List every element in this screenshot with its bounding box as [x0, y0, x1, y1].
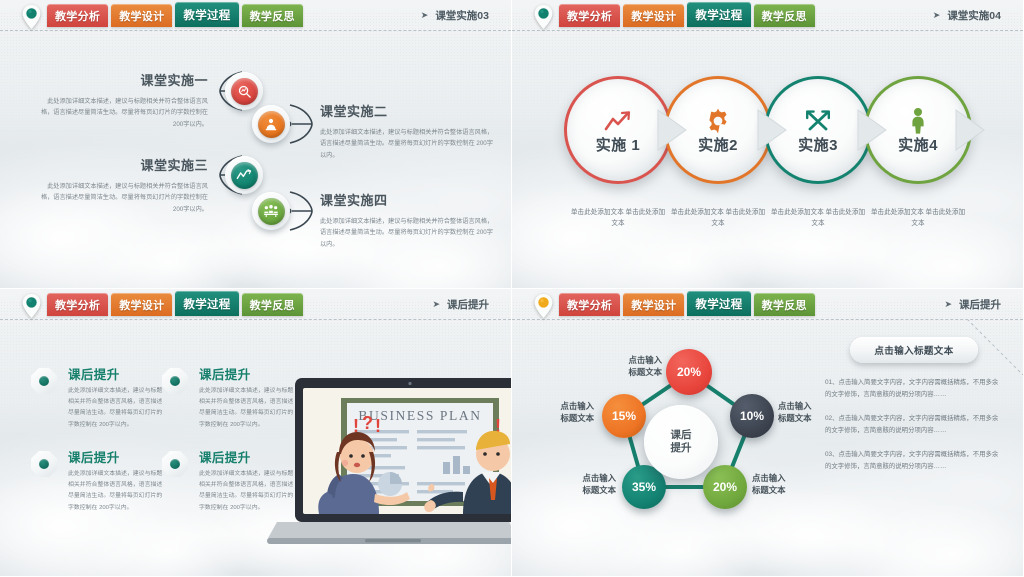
- star-node-left[interactable]: 15%: [602, 394, 646, 438]
- slide-thumbnail-grid: 教学分析 教学设计 教学过程 教学反思 ➤ 课堂实施03: [0, 0, 1024, 577]
- ring-process-diagram: 实施 1 实施2 实施: [564, 76, 976, 198]
- star-node-top[interactable]: 20%: [666, 349, 712, 395]
- ring-label: 实施 1: [596, 134, 641, 155]
- ring-label: 实施4: [898, 134, 938, 155]
- slide-title-right: ➤ 课后提升: [432, 297, 489, 312]
- nav-tabs[interactable]: 教学分析 教学设计 教学过程 教学反思: [47, 4, 303, 27]
- hub-line-1: 课后: [671, 429, 692, 442]
- user-presenter-icon: [258, 111, 285, 138]
- step-badge-1[interactable]: [225, 72, 263, 110]
- tab-teaching-design[interactable]: 教学设计: [623, 293, 684, 316]
- bullet-octagon-1: [31, 368, 57, 394]
- item-body: 此处添加详细文本描述，建议与标题相关并符合整体语言风格，语言描述尽量简洁生动。尽…: [68, 469, 168, 514]
- ring-caption-2: 单击此处添加文本 单击此处添加文本: [670, 208, 766, 230]
- trend-arrow-icon: [603, 106, 633, 136]
- line-chart-icon: [231, 162, 258, 189]
- chevron-right-icon: ➤: [933, 10, 941, 21]
- star-node-label-right: 点击输入 标题文本: [778, 401, 840, 425]
- svg-text:!: !: [375, 416, 381, 436]
- ring-caption-4: 单击此处添加文本 单击此处添加文本: [870, 208, 966, 230]
- slide-title-right: ➤ 课堂实施04: [933, 8, 1001, 23]
- bracket-connector: [286, 101, 324, 147]
- star-node-bottom-right[interactable]: 20%: [703, 465, 747, 509]
- star-network-chart: 课后 提升 20% 10% 20% 35% 15% 点击输入 标题文本 点击输入…: [526, 329, 826, 549]
- header-divider: [512, 319, 1023, 320]
- tab-teaching-analysis[interactable]: 教学分析: [47, 4, 108, 27]
- chevron-right-icon: ➤: [944, 299, 952, 310]
- tab-teaching-design[interactable]: 教学设计: [111, 293, 172, 316]
- bracket-connector: [286, 188, 324, 234]
- tab-teaching-analysis[interactable]: 教学分析: [559, 4, 620, 27]
- slide-header: 教学分析 教学设计 教学过程 教学反思 ➤ 课后提升: [512, 289, 1023, 320]
- panel-paragraph-2: 02、点击输入简要文字内容，文字内容需概括精炼，不用多余的文字修饰，言简意赅的说…: [825, 413, 1003, 438]
- laptop-business-plan-illustration: BUSINESS PLAN !?! !: [267, 374, 512, 570]
- list-item: 课后提升 此处添加详细文本描述，建议与标题相关并符合整体语言风格，语言描述尽量简…: [68, 364, 168, 431]
- list-item: 课后提升 此处添加详细文本描述，建议与标题相关并符合整体语言风格，语言描述尽量简…: [68, 447, 168, 514]
- chevron-right-icon: ➤: [421, 10, 429, 21]
- search-chart-icon: [231, 78, 258, 105]
- item-title: 课后提升: [68, 364, 168, 383]
- header-divider: [512, 30, 1023, 31]
- header-divider: [0, 30, 511, 31]
- tab-teaching-analysis[interactable]: 教学分析: [47, 293, 108, 316]
- page-title: 课堂实施04: [947, 8, 1001, 23]
- page-title: 课后提升: [447, 297, 489, 312]
- star-node-right[interactable]: 10%: [730, 394, 774, 438]
- page-title: 课后提升: [959, 297, 1001, 312]
- chevron-connector: [954, 108, 988, 152]
- item-body: 此处添加详细文本描述，建议与标题相关并符合整体语言风格，语言描述尽量简洁生动。尽…: [36, 96, 208, 130]
- panel-title-button[interactable]: 点击输入标题文本: [850, 337, 978, 363]
- map-pin-icon: [534, 5, 553, 29]
- item-title: 课堂实施二: [320, 101, 498, 120]
- step-badge-2[interactable]: [252, 105, 290, 143]
- item-body: 此处添加详细文本描述，建议与标题相关并符合整体语言风格，语言描述尽量简洁生动。尽…: [36, 181, 208, 215]
- nav-tabs[interactable]: 教学分析 教学设计 教学过程 教学反思: [47, 293, 303, 316]
- tab-teaching-reflection[interactable]: 教学反思: [242, 293, 303, 316]
- map-pin-icon: [22, 294, 41, 318]
- chevron-right-icon: ➤: [432, 299, 440, 310]
- tab-teaching-process[interactable]: 教学过程: [687, 2, 750, 27]
- item-block-1: 课堂实施一 此处添加详细文本描述，建议与标题相关并符合整体语言风格，语言描述尽量…: [36, 70, 208, 130]
- star-node-label-left: 点击输入 标题文本: [532, 401, 594, 425]
- item-title: 课堂实施一: [36, 70, 208, 89]
- slide-title-right: ➤ 课后提升: [944, 297, 1001, 312]
- slide-header: 教学分析 教学设计 教学过程 教学反思 ➤ 课堂实施04: [512, 0, 1023, 31]
- gear-icon: [705, 106, 731, 136]
- tab-teaching-process[interactable]: 教学过程: [175, 2, 238, 27]
- step-badge-3[interactable]: [225, 156, 263, 194]
- meeting-icon: [258, 198, 285, 225]
- ring-caption-1: 单击此处添加文本 单击此处添加文本: [570, 208, 666, 230]
- item-body: 此处添加详细文本描述，建议与标题相关并符合整体语言风格，语言描述尽量简洁生动。尽…: [320, 127, 498, 161]
- chevron-connector: [856, 108, 890, 152]
- step-badge-4[interactable]: [252, 192, 290, 230]
- nav-tabs[interactable]: 教学分析 教学设计 教学过程 教学反思: [559, 293, 815, 316]
- item-block-2: 课堂实施二 此处添加详细文本描述，建议与标题相关并符合整体语言风格，语言描述尽量…: [320, 101, 498, 161]
- cross-arrows-icon: [804, 106, 832, 136]
- ring-label: 实施2: [698, 134, 738, 155]
- page-title: 课堂实施03: [435, 8, 489, 23]
- star-hub: 课后 提升: [644, 405, 718, 479]
- item-body: 此处添加详细文本描述，建议与标题相关并符合整体语言风格，语言描述尽量简洁生动。尽…: [68, 386, 168, 431]
- slide-header: 教学分析 教学设计 教学过程 教学反思 ➤ 课后提升: [0, 289, 511, 320]
- tab-teaching-process[interactable]: 教学过程: [687, 291, 750, 316]
- star-node-label-bottom-right: 点击输入 标题文本: [752, 473, 814, 497]
- slide-header: 教学分析 教学设计 教学过程 教学反思 ➤ 课堂实施03: [0, 0, 511, 31]
- ring-caption-3: 单击此处添加文本 单击此处添加文本: [770, 208, 866, 230]
- ring-label: 实施3: [798, 134, 838, 155]
- star-node-label-top: 点击输入 标题文本: [602, 355, 662, 379]
- map-pin-icon: [534, 294, 553, 318]
- chevron-connector: [756, 108, 790, 152]
- panel-paragraph-3: 03、点击输入简要文字内容，文字内容需概括精炼，不用多余的文字修饰，言简意赅的说…: [825, 449, 1003, 474]
- map-pin-icon: [22, 5, 41, 29]
- hub-line-2: 提升: [671, 442, 692, 455]
- slide-classroom-03[interactable]: 教学分析 教学设计 教学过程 教学反思 ➤ 课堂实施03: [0, 0, 512, 289]
- chevron-connector: [656, 108, 690, 152]
- slide-title-right: ➤ 课堂实施03: [421, 8, 489, 23]
- corner-diagonal-decoration: [967, 319, 1023, 375]
- tab-teaching-process[interactable]: 教学过程: [175, 291, 238, 316]
- bullet-octagon-3: [31, 451, 57, 477]
- tab-teaching-design[interactable]: 教学设计: [623, 4, 684, 27]
- item-title: 课堂实施三: [36, 155, 208, 174]
- slide-classroom-04[interactable]: 教学分析 教学设计 教学过程 教学反思 ➤ 课堂实施04: [512, 0, 1024, 289]
- person-icon: [908, 106, 928, 136]
- item-body: 此处添加详细文本描述，建议与标题相关并符合整体语言风格，语言描述尽量简洁生动。尽…: [320, 216, 498, 250]
- tab-teaching-reflection[interactable]: 教学反思: [754, 293, 815, 316]
- item-title: 课堂实施四: [320, 190, 498, 209]
- item-block-3: 课堂实施三 此处添加详细文本描述，建议与标题相关并符合整体语言风格，语言描述尽量…: [36, 155, 208, 215]
- tab-teaching-reflection[interactable]: 教学反思: [242, 4, 303, 27]
- tab-teaching-design[interactable]: 教学设计: [111, 4, 172, 27]
- item-title: 课后提升: [68, 447, 168, 466]
- tab-teaching-analysis[interactable]: 教学分析: [559, 293, 620, 316]
- item-block-4: 课堂实施四 此处添加详细文本描述，建议与标题相关并符合整体语言风格，语言描述尽量…: [320, 190, 498, 250]
- nav-tabs[interactable]: 教学分析 教学设计 教学过程 教学反思: [559, 4, 815, 27]
- slide-after-class-1[interactable]: 教学分析 教学设计 教学过程 教学反思 ➤ 课后提升 课后提升 此处添加详细文本…: [0, 289, 512, 577]
- svg-text:?: ?: [362, 413, 373, 433]
- panel-paragraph-1: 01、点击输入简要文字内容，文字内容需概括精炼，不用多余的文字修饰，言简意赅的说…: [825, 377, 1003, 402]
- tab-teaching-reflection[interactable]: 教学反思: [754, 4, 815, 27]
- header-divider: [0, 319, 511, 320]
- star-node-label-bottom-left: 点击输入 标题文本: [554, 473, 616, 497]
- slide-after-class-2[interactable]: 教学分析 教学设计 教学过程 教学反思 ➤ 课后提升: [512, 289, 1024, 577]
